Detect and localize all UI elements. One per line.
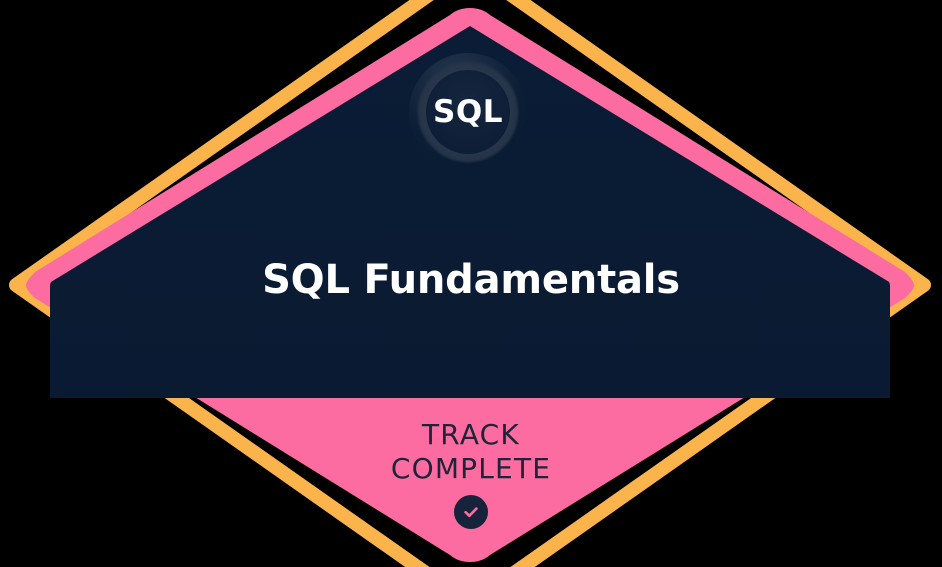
achievement-badge: SQL SQL Fundamentals TRACK COMPLETE: [0, 0, 942, 567]
sql-emblem-label: SQL: [433, 97, 503, 128]
sql-emblem-icon: SQL: [409, 53, 527, 171]
check-circle-icon: [454, 495, 488, 529]
